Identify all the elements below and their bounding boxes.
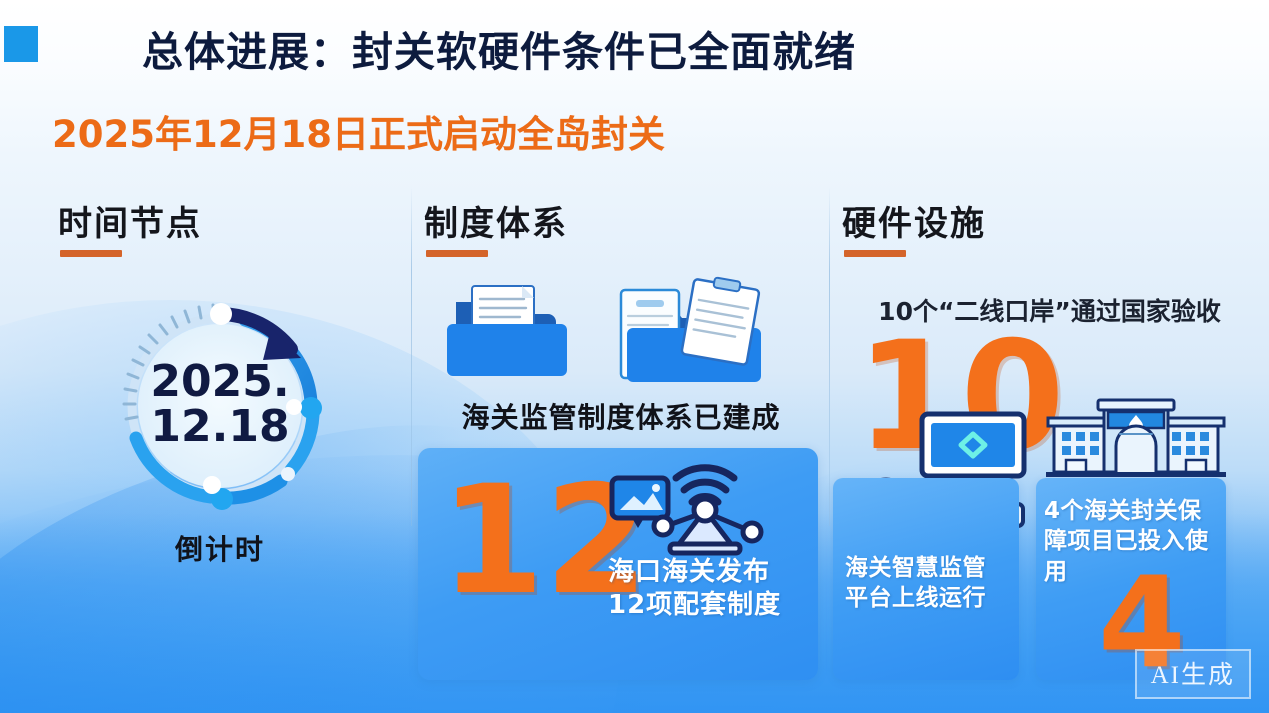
countdown-ring: 2025. 12.18 <box>95 278 345 528</box>
countdown-date-line2: 12.18 <box>95 405 345 450</box>
section-underline-hardware <box>844 250 906 257</box>
hardware-card-platform-line2: 平台上线运行 <box>845 584 1013 614</box>
section-heading-hardware: 硬件设施 <box>842 196 986 245</box>
system-card-text-line1: 海口海关发布 <box>608 556 781 589</box>
column-divider-2 <box>829 186 830 526</box>
column-divider-1 <box>411 186 412 526</box>
customs-building-glyph <box>1046 390 1226 480</box>
document-folder-icons <box>440 272 780 392</box>
slide-canvas: 总体进展：封关软硬件条件已全面就绪 2025年12月18日正式启动全岛封关 时间… <box>0 0 1269 713</box>
title-accent-square <box>4 26 38 62</box>
section-heading-system: 制度体系 <box>424 196 568 245</box>
folder-documents-icon <box>440 272 780 392</box>
page-subtitle: 2025年12月18日正式启动全岛封关 <box>52 104 665 158</box>
countdown-label: 倒计时 <box>95 528 345 568</box>
broadcast-network-icon <box>606 460 776 560</box>
countdown-date-line1: 2025. <box>95 360 345 405</box>
page-title: 总体进展：封关软硬件条件已全面就绪 <box>142 18 856 78</box>
section-underline-system <box>426 250 488 257</box>
system-card-text: 海口海关发布 12项配套制度 <box>608 556 781 623</box>
hardware-card-platform-text: 海关智慧监管 平台上线运行 <box>845 554 1013 614</box>
hardware-card-platform-line1: 海关智慧监管 <box>845 554 1013 584</box>
broadcast-network-glyph <box>606 460 776 560</box>
system-caption: 海关监管制度体系已建成 <box>412 396 830 436</box>
section-heading-timeline: 时间节点 <box>58 196 202 245</box>
section-underline-timeline <box>60 250 122 257</box>
customs-building-icon <box>1046 390 1226 480</box>
ai-generated-watermark: AI生成 <box>1135 649 1251 699</box>
system-card-text-line2: 12项配套制度 <box>608 589 781 622</box>
countdown-date: 2025. 12.18 <box>95 360 345 450</box>
hardware-card-projects-line1: 4个海关封关保 <box>1044 496 1222 526</box>
